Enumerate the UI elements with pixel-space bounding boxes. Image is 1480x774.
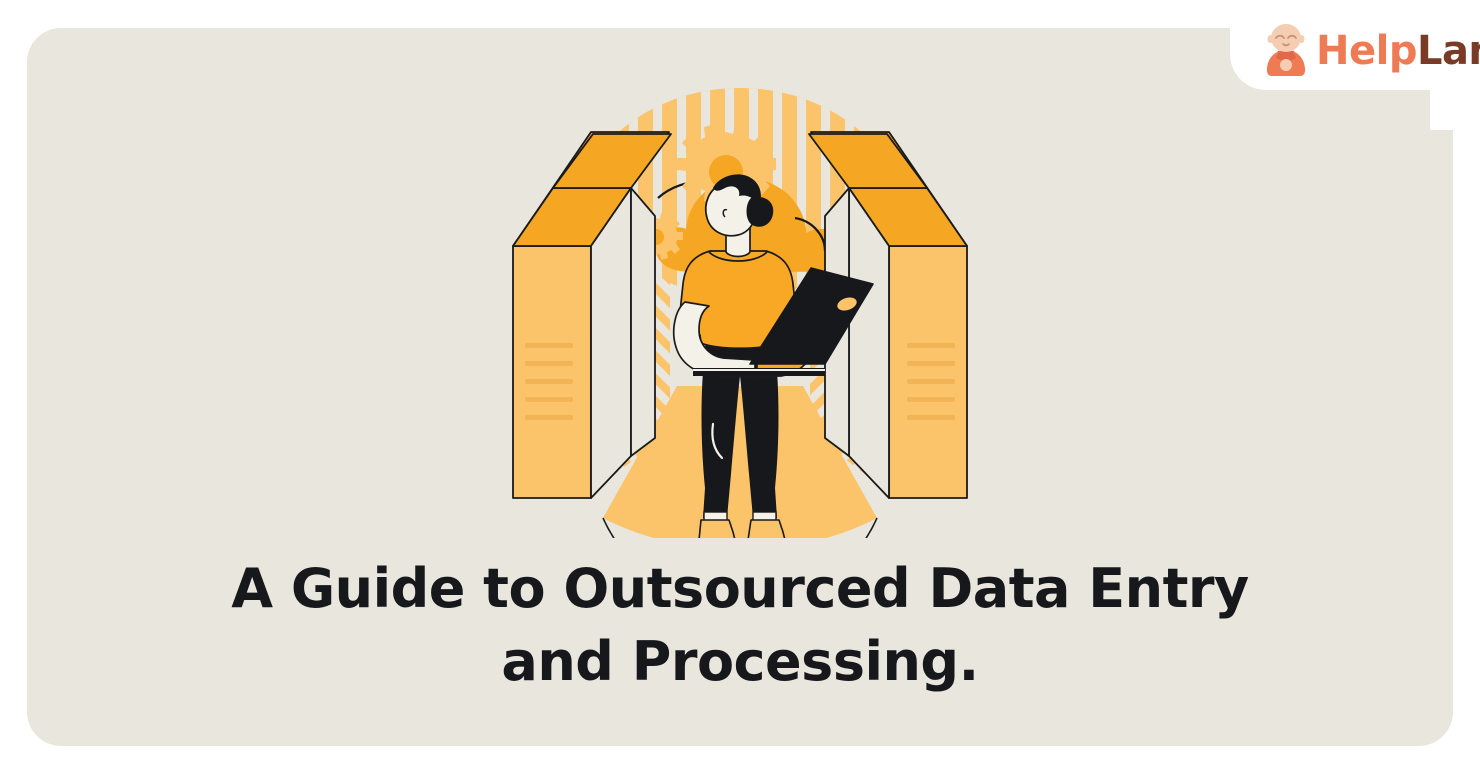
logo-wordmark: HelpLama	[1316, 31, 1480, 71]
screenshot-stage: A Guide to Outsourced Data Entry and Pro…	[0, 0, 1480, 774]
helplama-monk-icon	[1262, 23, 1310, 79]
logo-word-lama: Lama	[1417, 28, 1480, 74]
page-title: A Guide to Outsourced Data Entry and Pro…	[190, 552, 1290, 699]
server-rack-left	[513, 88, 675, 498]
helplama-logo[interactable]: HelpLama	[1262, 22, 1480, 80]
logo-word-help: Help	[1316, 28, 1417, 74]
data-center-worker-illustration	[495, 88, 985, 538]
